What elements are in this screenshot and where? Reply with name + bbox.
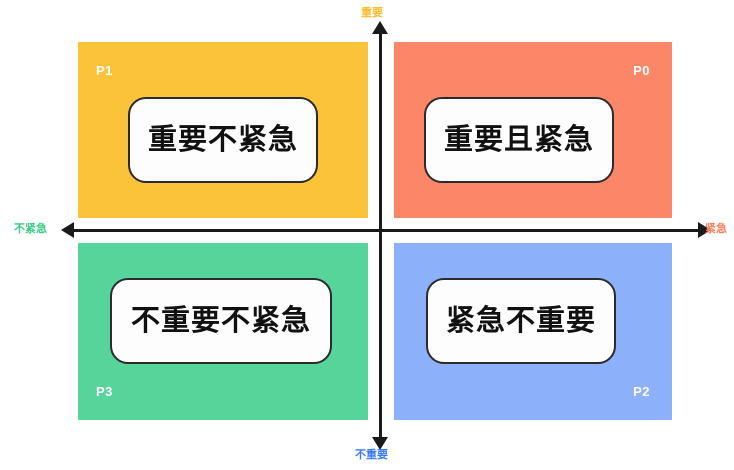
callout-box-p3: 不重要不紧急: [110, 278, 332, 364]
axis-label-not-urgent: 不紧急: [14, 224, 47, 235]
axis-label-urgent: 紧急: [705, 224, 727, 235]
arrow-up-icon: [372, 21, 388, 34]
axis-label-not-important: 不重要: [355, 450, 388, 461]
priority-matrix-diagram: P1 P0 P3 P2 重要 不重要 不紧急 紧急 重要不紧急 重要且紧急 不重…: [0, 0, 734, 470]
quadrant-p1-code: P1: [96, 64, 113, 77]
callout-label-p0: 重要且紧急: [444, 126, 594, 155]
quadrant-p3-code: P3: [96, 385, 113, 398]
callout-label-p1: 重要不紧急: [148, 126, 298, 155]
callout-box-p2: 紧急不重要: [426, 278, 616, 364]
callout-label-p2: 紧急不重要: [446, 307, 596, 336]
quadrant-p2-code: P2: [633, 385, 650, 398]
callout-label-p3: 不重要不紧急: [131, 307, 311, 336]
callout-box-p0: 重要且紧急: [424, 97, 614, 183]
arrow-left-icon: [61, 222, 74, 238]
callout-box-p1: 重要不紧急: [128, 97, 318, 183]
horizontal-axis-line: [70, 229, 702, 232]
vertical-axis-line: [379, 30, 382, 440]
quadrant-p0-code: P0: [633, 64, 650, 77]
axis-label-important: 重要: [361, 8, 383, 19]
